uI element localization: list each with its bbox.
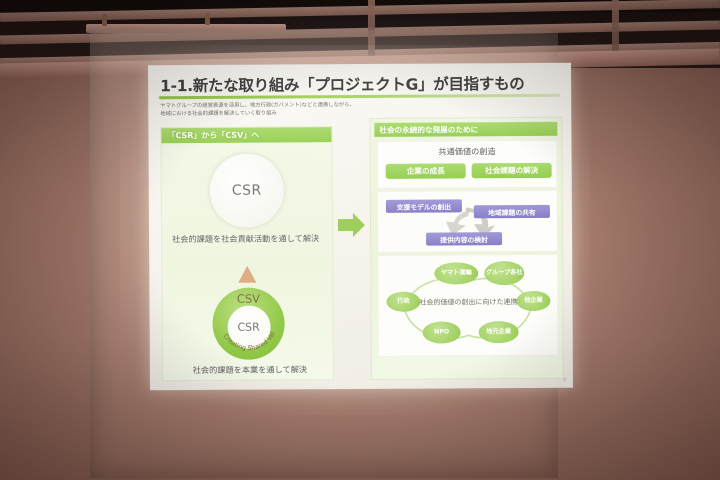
- csr-circle: CSR: [210, 153, 284, 227]
- left-panel-header: 「CSR」から「CSV」へ: [161, 127, 331, 143]
- presentation-slide: 1-1.新たな取り組み「プロジェクトG」が目指すもの ヤマトグループの経営資源を…: [148, 63, 573, 391]
- cycle-box-support-model-label: 支援モデルの創出: [397, 201, 451, 211]
- shared-value-subtitle: 共通価値の創造: [378, 145, 557, 158]
- screen-hook-right: [205, 13, 210, 25]
- up-arrow-icon: [238, 266, 256, 283]
- right-panel-shared-value: 社会の永続的な発展のために 共通価値の創造 企業の成長 社会課題の解決 支援モデ…: [369, 117, 564, 380]
- right-arrow-icon: [338, 212, 366, 238]
- left-panel-header-label: 「CSR」から「CSV」へ: [161, 130, 259, 142]
- node-npo: NPO: [423, 321, 461, 343]
- slide-lead-text: ヤマトグループの経営資源を活用し、地方行政(ガバメント)などと連携しながら、地域…: [160, 101, 356, 119]
- cycle-box-service-review-label: 提供内容の検討: [440, 234, 488, 244]
- csv-ring: CSV CSR Creating Shared Value: [212, 287, 284, 359]
- photo-of-projected-slide: 1-1.新たな取り組み「プロジェクトG」が目指すもの ヤマトグループの経営資源を…: [0, 0, 720, 480]
- shared-value-block: 共通価値の創造 企業の成長 社会課題の解決: [376, 140, 557, 189]
- cycle-block: 支援モデルの創出 地域課題の共有 提供内容の検討: [377, 190, 558, 253]
- node-group-companies-label: グループ各社: [486, 270, 523, 277]
- slide-page-number: 7: [563, 378, 566, 384]
- screen-hook-left: [102, 14, 107, 26]
- pill-corporate-growth-label: 企業の成長: [407, 165, 445, 176]
- cycle-box-regional-issues-label: 地域課題の共有: [488, 206, 536, 216]
- right-panel-header: 社会の永続的な発展のために: [374, 122, 557, 137]
- csv-caption: 社会的課題を本業を通して解決: [171, 363, 329, 376]
- right-panel-header-label: 社会の永続的な発展のために: [374, 124, 478, 136]
- cycle-box-regional-issues: 地域課題の共有: [474, 205, 550, 218]
- csr-circle-label: CSR: [232, 183, 262, 199]
- node-yamato-transport-label: ヤマト運輸: [441, 270, 472, 277]
- pill-social-issue-solution-label: 社会課題の解決: [485, 165, 538, 176]
- svg-text:Creating Shared Value: Creating Shared Value: [212, 287, 277, 352]
- network-block: ヤマト運輸 グループ各社 行政 他企業 NPO 地元企業 社会的価値の創出に向け…: [377, 254, 559, 357]
- creating-shared-value-arc-text: Creating Shared Value: [212, 287, 284, 359]
- node-group-companies: グループ各社: [484, 261, 524, 285]
- node-local-companies-label: 地元企業: [486, 329, 511, 336]
- slide-title: 1-1.新たな取り組み「プロジェクトG」が目指すもの: [160, 72, 558, 96]
- node-npo-label: NPO: [434, 329, 449, 336]
- csr-caption: 社会的課題を社会貢献活動を通して解決: [172, 233, 327, 245]
- network-center-label: 社会的価値の創出に向けた連携: [392, 297, 544, 308]
- cycle-box-service-review: 提供内容の検討: [426, 232, 502, 245]
- left-panel-csr-to-csv: 「CSR」から「CSV」へ CSR 社会的課題を社会貢献活動を通して解決 CSV…: [160, 126, 334, 381]
- cycle-box-support-model: 支援モデルの創出: [386, 199, 462, 212]
- pill-social-issue-solution: 社会課題の解決: [472, 163, 552, 178]
- pill-corporate-growth: 企業の成長: [386, 163, 466, 178]
- node-local-companies: 地元企業: [479, 321, 519, 343]
